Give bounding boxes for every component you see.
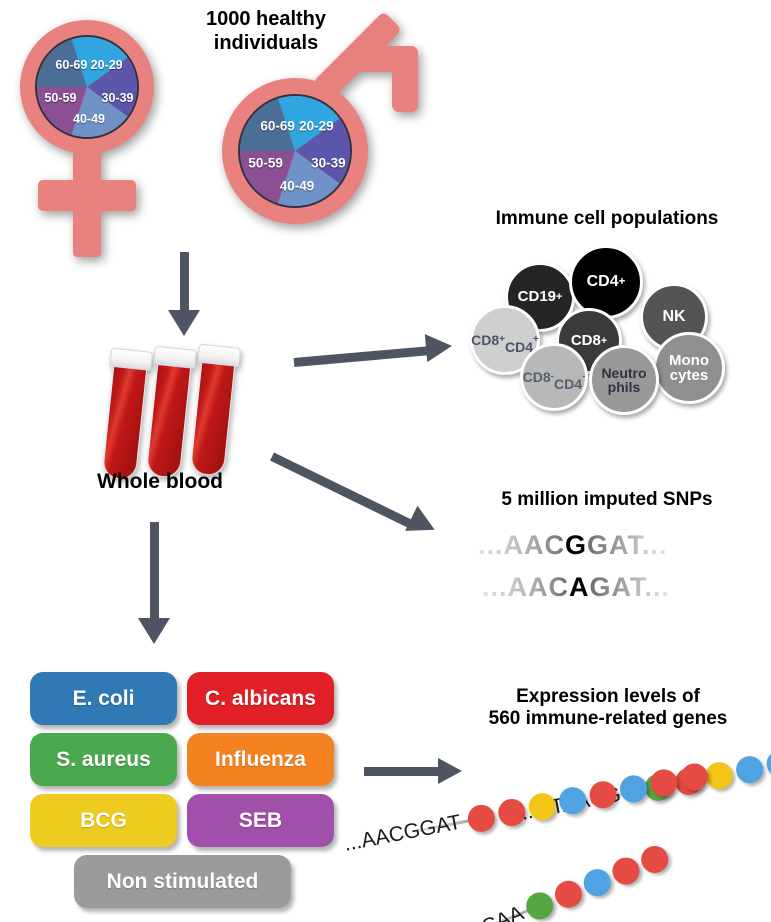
male-age-pie: 20-2930-3940-4950-5960-69 [238,94,352,208]
strand-sequence: ...TTAACGG [519,779,639,825]
pie-label-60-69: 60-69 [55,58,87,72]
gene-bead-blue [557,784,589,816]
stimuli-panel: E. coliC. albicansS. aureusInfluenzaBCGS… [30,672,350,892]
strand-backbone [593,787,649,801]
immune-cell-cd8-cd4: CD8+CD4+ [470,305,540,375]
immune-cell-monocytes: Mono cytes [653,332,725,404]
whole-blood-label: Whole blood [60,470,260,495]
stimulus-s-aureus[interactable]: S. aureus [30,733,177,786]
stimulus-c-albicans[interactable]: C. albicans [187,672,334,725]
stimulus-bcg[interactable]: BCG [30,794,177,847]
stimulus-non-stimulated[interactable]: Non stimulated [74,855,291,908]
pie-label-30-39: 30-39 [102,91,134,105]
strand-3: ...CACGCAA [520,782,771,922]
gene-bead-yellow [703,759,735,791]
pie-label-60-69: 60-69 [260,119,295,134]
female-age-pie: 20-2930-3940-4950-5960-69 [35,35,139,139]
snp-row: ...AACAGAT... [482,572,670,603]
snp-suffix: GAT... [587,530,668,561]
figure-canvas: 1000 healthy individuals 20-2930-3940-49… [0,0,771,922]
pie-label-50-59: 50-59 [248,156,283,171]
snps-title: 5 million imputed SNPs [452,489,762,511]
stimulus-seb[interactable]: SEB [187,794,334,847]
strand-2: ...AACGGAT [465,723,771,837]
gene-bead-red [551,876,586,911]
female-symbol: 20-2930-3940-4950-5960-69 [14,12,174,262]
snp-sequences: ...AACGGAT......AACAGAT... [478,530,758,620]
pie-label-30-39: 30-39 [311,156,346,171]
male-symbol: 20-2930-3940-4950-5960-69 [204,32,434,262]
snp-variant-base: G [565,530,587,561]
expression-title: Expression levels of 560 immune-related … [448,686,768,731]
gene-bead-red [678,761,710,793]
blood-tubes-group [110,348,260,478]
pie-label-20-29: 20-29 [91,58,123,72]
pie-label-20-29: 20-29 [299,119,334,134]
pie-label-40-49: 40-49 [73,112,105,126]
gene-bead-red [465,802,497,834]
pie-label-40-49: 40-49 [280,179,315,194]
female-stem-horizontal [38,180,136,211]
gene-bead-blue [579,865,614,900]
immune-title: Immune cell populations [452,208,762,230]
strand-sequence: ...CACGCAA [406,901,528,922]
gene-bead-yellow [526,790,558,822]
male-arrow-head-vertical [392,46,418,112]
pie-label-50-59: 50-59 [44,91,76,105]
gene-bead-red [608,853,643,888]
snp-prefix: ...AAC [478,530,565,561]
immune-cell-nk: NK [640,283,708,351]
gene-bead-blue [618,773,650,805]
strand-backbone [416,818,472,832]
strand-sequence: ...AACGGAT [342,810,463,856]
gene-bead-red [587,778,619,810]
gene-bead-red [648,767,680,799]
gene-bead-red [496,796,528,828]
gene-bead-red [673,765,705,797]
immune-cell-cd4: CD4+ [569,245,643,319]
snp-suffix: GAT... [590,572,671,603]
immune-cell-cd8: CD8+ [556,308,622,374]
immune-cell-cd8-cd4: CD8-CD4- [520,343,588,411]
stimulus-e-coli[interactable]: E. coli [30,672,177,725]
snp-row: ...AACGGAT... [478,530,668,561]
strand-backbone [477,908,531,922]
gene-bead-green [522,888,557,922]
gene-bead-red [637,841,672,876]
snp-prefix: ...AAC [482,572,569,603]
immune-cell-cd19: CD19+ [505,262,575,332]
gene-bead-blue [764,747,771,779]
gene-bead-blue [734,753,766,785]
gene-bead-green [642,771,674,803]
immune-cell-neutrophils: Neutro phils [589,345,659,415]
stimulus-influenza[interactable]: Influenza [187,733,334,786]
snp-variant-base: A [569,572,590,603]
